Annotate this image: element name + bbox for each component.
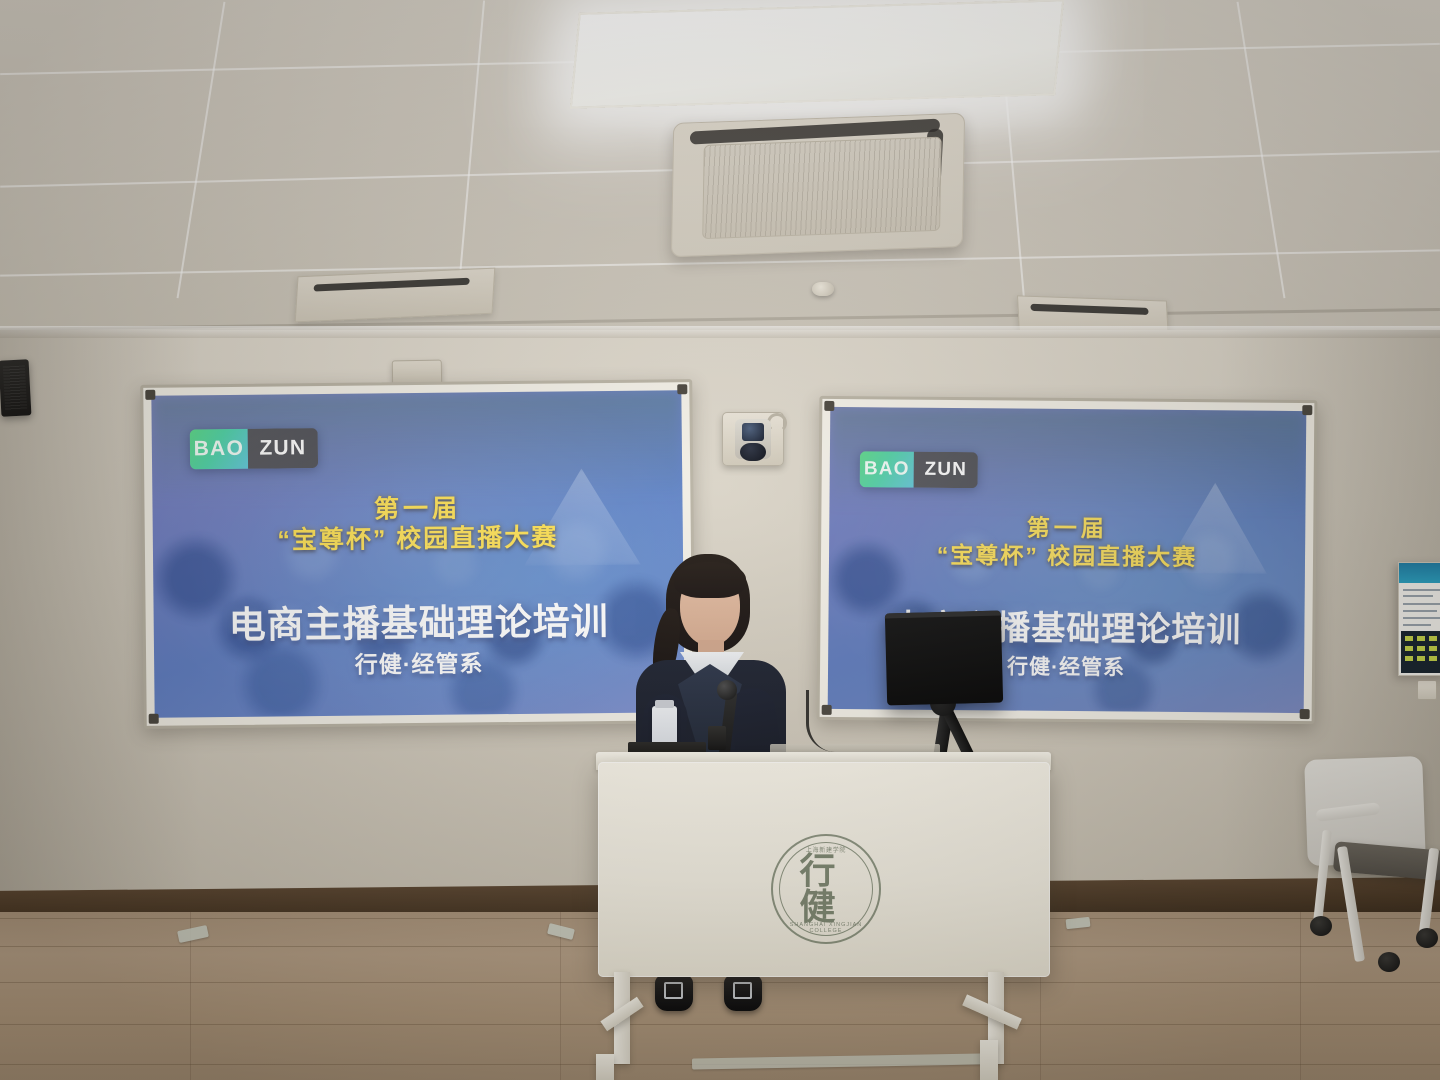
board-corner [1302, 405, 1312, 415]
seal-arc-bottom: SHANGHAI XINGJIAN COLLEGE [773, 922, 879, 934]
classroom-photo-scene: BAO ZUN 第一届 “宝尊杯” 校园直播大赛 电商主播基础理论培训 行健·经… [0, 0, 1440, 1080]
podium-foot-base-right [980, 1040, 998, 1080]
wall-speaker-icon [0, 359, 31, 416]
slide-competition-line: “宝尊杯” 校园直播大赛 [153, 516, 683, 558]
presenter-fringe [674, 562, 746, 598]
notice-poster [1398, 562, 1440, 676]
baozun-logo-bao: BAO [860, 451, 914, 487]
slide-subtitle: 行健·经管系 [154, 642, 684, 682]
office-chair-caster [1416, 928, 1438, 948]
seal-glyph: 行健 [800, 853, 853, 925]
board-corner [149, 714, 159, 724]
microphone-head [717, 680, 737, 700]
baozun-logo-zun: ZUN [914, 452, 978, 489]
baozun-logo-zun: ZUN [248, 428, 318, 469]
presenter-shoe-right [724, 975, 762, 1011]
office-chair-caster [1310, 916, 1332, 936]
podium-front-panel: 上海新建学院 行健 SHANGHAI XINGJIAN COLLEGE [598, 762, 1050, 977]
smoke-detector-icon [812, 282, 834, 296]
slide-content-left: BAO ZUN 第一届 “宝尊杯” 校园直播大赛 电商主播基础理论培训 行健·经… [151, 390, 684, 718]
slide-main-title: 电商主播基础理论培训 [153, 590, 684, 650]
baozun-logo: BAO ZUN [860, 451, 978, 488]
ceiling-light-panel [570, 0, 1065, 109]
podium-monitor[interactable] [885, 610, 1003, 705]
board-corner [145, 390, 155, 400]
ceiling-air-vent-left [295, 268, 496, 323]
presenter-shoe-left [655, 975, 693, 1011]
wall-socket[interactable] [1417, 680, 1437, 700]
board-corner [677, 384, 687, 394]
slide-competition-line: “宝尊杯” 校园直播大赛 [829, 535, 1305, 573]
college-seal-logo: 上海新建学院 行健 SHANGHAI XINGJIAN COLLEGE [771, 834, 881, 944]
baozun-logo-bao: BAO [190, 429, 248, 470]
desk-device [708, 726, 726, 750]
board-corner [824, 401, 834, 411]
ceiling-ac-cassette [671, 113, 965, 257]
wall-camera-icon [722, 412, 784, 466]
baozun-logo: BAO ZUN [190, 428, 318, 469]
board-corner [1300, 709, 1310, 719]
office-chair-caster [1378, 952, 1400, 972]
podium-foot-base-left [596, 1054, 614, 1080]
ceiling [0, 0, 1440, 352]
